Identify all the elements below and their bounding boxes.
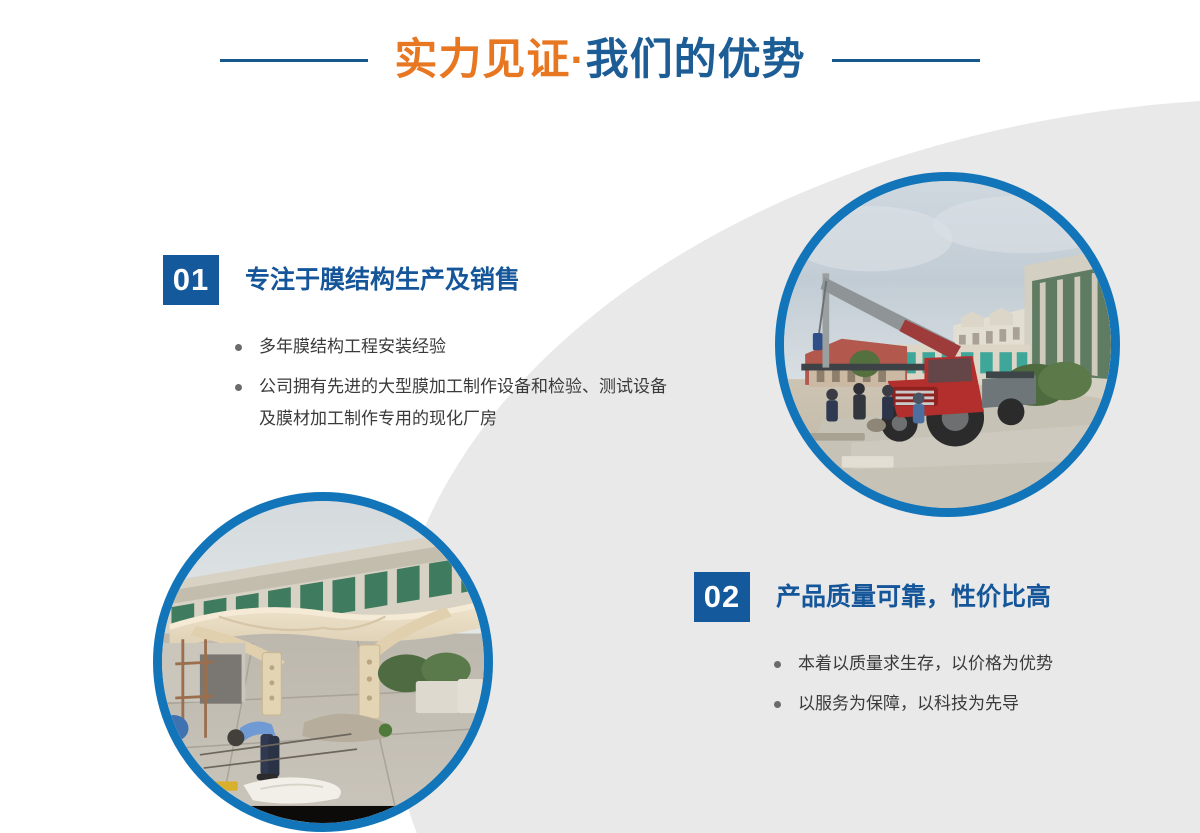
feature-01-number-badge: 01 — [163, 255, 219, 305]
feature-02-title: 产品质量可靠，性价比高 — [776, 585, 1051, 610]
list-item: 多年膜结构工程安装经验 — [235, 331, 683, 363]
feature-01-title: 专注于膜结构生产及销售 — [245, 268, 520, 293]
feature-02-header: 02 产品质量可靠，性价比高 — [694, 572, 1144, 622]
feature-02-bullet-list: 本着以质量求生存，以价格为优势 以服务为保障，以科技为先导 — [694, 648, 1144, 720]
feature-02-number-badge: 02 — [694, 572, 750, 622]
advantage-section-page: 实力见证·我们的优势 — [0, 0, 1200, 833]
membrane-canopy-illustration — [162, 501, 484, 823]
page-title-secondary: 我们的优势 — [586, 36, 806, 84]
section-header: 实力见证·我们的优势 — [0, 0, 1200, 120]
feature-01-header: 01 专注于膜结构生产及销售 — [163, 255, 683, 305]
page-title-separator-dot: · — [570, 36, 585, 84]
list-item: 本着以质量求生存，以价格为优势 — [774, 648, 1144, 680]
feature-block-01: 01 专注于膜结构生产及销售 多年膜结构工程安装经验 公司拥有先进的大型膜加工制… — [163, 255, 683, 443]
crane-truck-illustration — [784, 181, 1111, 508]
feature-01-bullet-list: 多年膜结构工程安装经验 公司拥有先进的大型膜加工制作设备和检验、测试设备及膜材加… — [163, 331, 683, 435]
photo-membrane-canopy-construction — [153, 492, 493, 832]
list-item: 公司拥有先进的大型膜加工制作设备和检验、测试设备及膜材加工制作专用的现化厂房 — [235, 371, 683, 435]
header-rule-left — [220, 59, 368, 62]
photo-crane-truck-construction-site — [775, 172, 1120, 517]
list-item: 以服务为保障，以科技为先导 — [774, 688, 1144, 720]
feature-block-02: 02 产品质量可靠，性价比高 本着以质量求生存，以价格为优势 以服务为保障，以科… — [694, 572, 1144, 728]
header-rule-right — [832, 59, 980, 62]
page-title: 实力见证·我们的优势 — [394, 39, 805, 82]
page-title-primary: 实力见证 — [394, 36, 570, 84]
